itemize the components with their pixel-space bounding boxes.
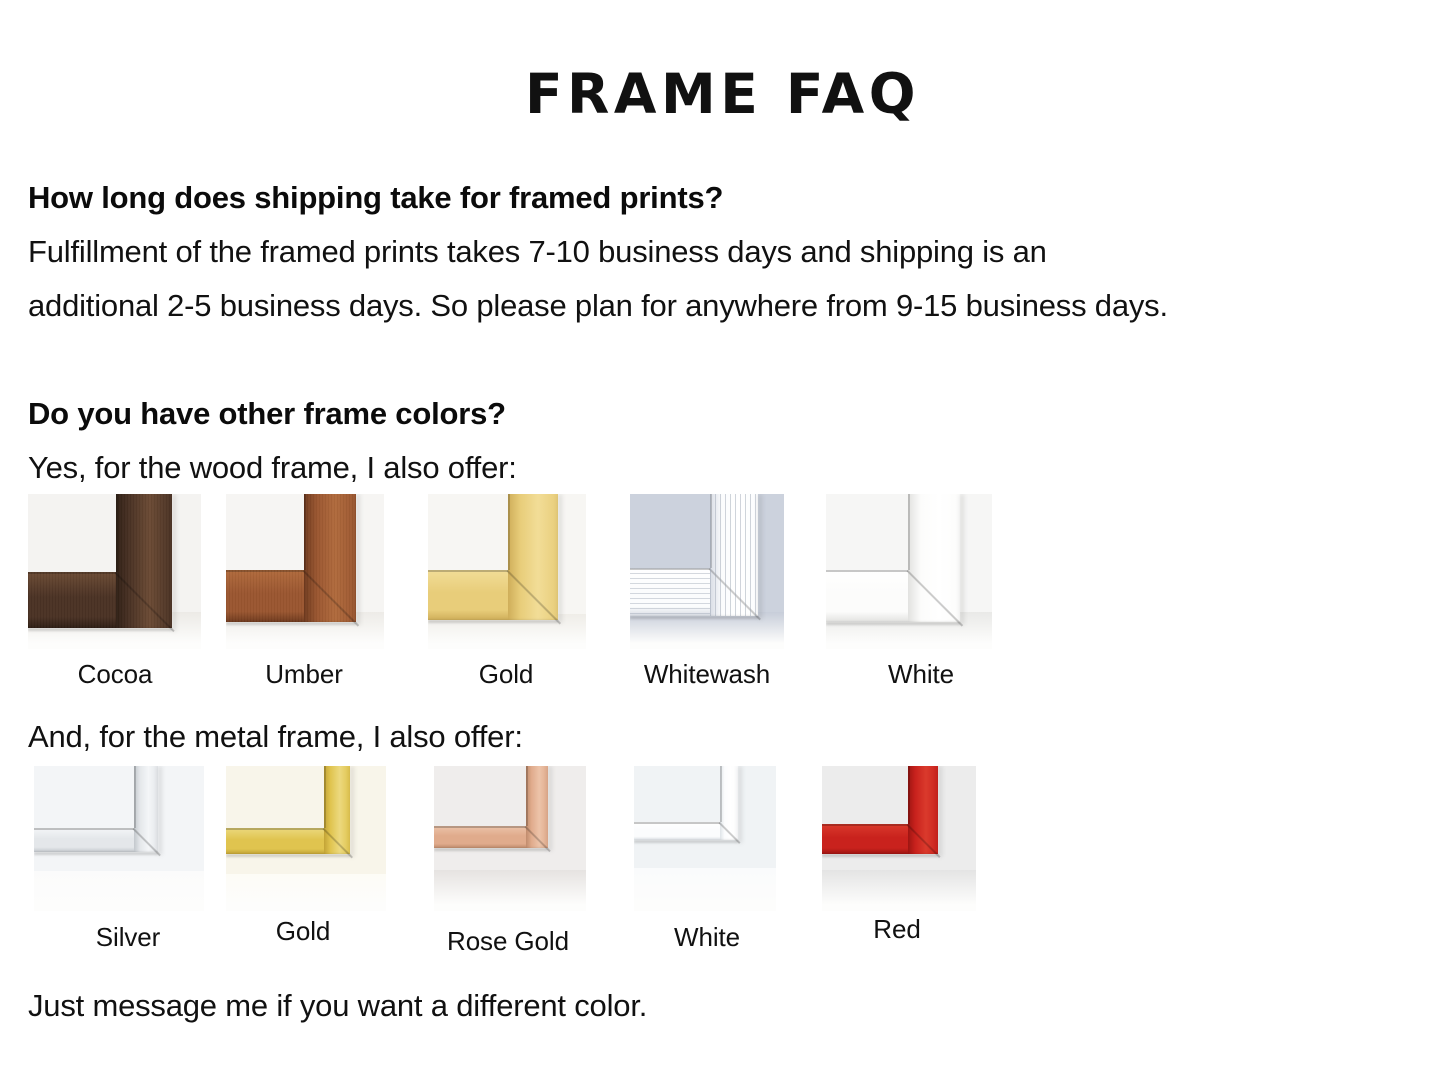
photo-table-surface bbox=[434, 870, 586, 911]
frame-inner-lip-vertical bbox=[908, 494, 910, 570]
frame-bottom-edge bbox=[630, 616, 758, 619]
frame-vertical-arm bbox=[908, 494, 960, 622]
frame-inner-lip-vertical bbox=[526, 766, 528, 826]
frame-right-edge bbox=[548, 766, 552, 851]
frame-bottom-edge bbox=[34, 852, 158, 855]
frame-swatch[interactable] bbox=[28, 494, 201, 649]
frame-inner-lip-horizontal bbox=[428, 570, 508, 572]
frame-right-edge bbox=[938, 766, 942, 857]
frame-swatch[interactable] bbox=[226, 494, 384, 649]
frame-inner-lip-horizontal bbox=[434, 826, 526, 828]
frame-swatch[interactable] bbox=[428, 494, 586, 649]
frame-bottom-edge bbox=[634, 840, 738, 843]
frame-right-edge bbox=[356, 494, 360, 625]
frame-right-edge bbox=[758, 494, 762, 619]
faq-answer-shipping-line-2: additional 2-5 business days. So please … bbox=[28, 288, 1168, 324]
frame-swatch-label: Red bbox=[797, 914, 997, 945]
frame-corner-photo bbox=[226, 494, 384, 649]
frame-inner-lip-horizontal bbox=[226, 828, 324, 830]
frame-swatch-label: Cocoa bbox=[15, 659, 215, 690]
photo-table-surface bbox=[634, 868, 776, 911]
frame-corner-photo bbox=[28, 494, 201, 649]
frame-bottom-edge bbox=[822, 854, 938, 857]
frame-swatch-label: Silver bbox=[28, 922, 228, 953]
frame-inner-lip-horizontal bbox=[826, 570, 908, 572]
frame-inner-lip-vertical bbox=[324, 766, 326, 828]
frame-corner-photo bbox=[634, 766, 776, 911]
frame-inner-lip-horizontal bbox=[634, 822, 720, 824]
frame-right-edge bbox=[960, 494, 964, 625]
frame-inner-lip-vertical bbox=[134, 766, 136, 828]
frame-corner-photo bbox=[822, 766, 976, 911]
frame-swatch-label: White bbox=[607, 922, 807, 953]
frame-swatch-label: Gold bbox=[406, 659, 606, 690]
frame-swatch-label: Rose Gold bbox=[408, 926, 608, 957]
frame-bottom-edge bbox=[434, 848, 548, 851]
frame-inner-lip-horizontal bbox=[34, 828, 134, 830]
frame-swatch[interactable] bbox=[826, 494, 992, 649]
page-title: FRAME FAQ bbox=[0, 62, 1445, 126]
wood-frames-intro: Yes, for the wood frame, I also offer: bbox=[28, 450, 517, 486]
frame-corner-photo bbox=[826, 494, 992, 649]
frame-corner-photo bbox=[434, 766, 586, 911]
frame-swatch[interactable] bbox=[822, 766, 976, 911]
frame-bottom-edge bbox=[226, 854, 350, 857]
photo-table-surface bbox=[226, 874, 386, 911]
frame-right-edge bbox=[738, 766, 742, 843]
faq-question-shipping: How long does shipping take for framed p… bbox=[28, 180, 723, 216]
frame-vertical-arm bbox=[720, 766, 738, 840]
frame-corner-photo bbox=[428, 494, 586, 649]
frame-right-edge bbox=[158, 766, 162, 855]
frame-vertical-arm bbox=[508, 494, 558, 620]
frame-swatch[interactable] bbox=[630, 494, 784, 649]
frame-corner-photo bbox=[34, 766, 204, 911]
frame-right-edge bbox=[558, 494, 562, 623]
frame-swatch[interactable] bbox=[434, 766, 586, 911]
frame-inner-lip-vertical bbox=[508, 494, 510, 570]
frame-swatch-label: Whitewash bbox=[607, 659, 807, 690]
photo-table-surface bbox=[822, 870, 976, 911]
faq-question-frame-colors: Do you have other frame colors? bbox=[28, 396, 506, 432]
frame-right-edge bbox=[172, 494, 176, 631]
frame-swatch-label: Umber bbox=[204, 659, 404, 690]
frame-swatch[interactable] bbox=[34, 766, 204, 911]
frame-corner-photo bbox=[630, 494, 784, 649]
frame-inner-lip-horizontal bbox=[822, 824, 908, 826]
frame-swatch-label: Gold bbox=[203, 916, 403, 947]
frame-inner-lip-vertical bbox=[908, 766, 910, 824]
frame-swatch-label: White bbox=[821, 659, 1021, 690]
frame-swatch[interactable] bbox=[226, 766, 386, 911]
frame-right-edge bbox=[350, 766, 354, 857]
frame-bottom-edge bbox=[226, 622, 356, 625]
faq-answer-shipping-line-1: Fulfillment of the framed prints takes 7… bbox=[28, 234, 1047, 270]
frame-bottom-edge bbox=[428, 620, 558, 623]
frame-bottom-edge bbox=[826, 622, 960, 625]
frame-inner-lip-vertical bbox=[720, 766, 722, 822]
frame-corner-photo bbox=[226, 766, 386, 911]
metal-frames-intro: And, for the metal frame, I also offer: bbox=[28, 719, 523, 755]
closing-message: Just message me if you want a different … bbox=[28, 988, 647, 1024]
frame-swatch[interactable] bbox=[634, 766, 776, 911]
frame-vertical-arm bbox=[526, 766, 548, 848]
photo-table-surface bbox=[34, 871, 204, 911]
frame-bottom-edge bbox=[28, 628, 172, 631]
